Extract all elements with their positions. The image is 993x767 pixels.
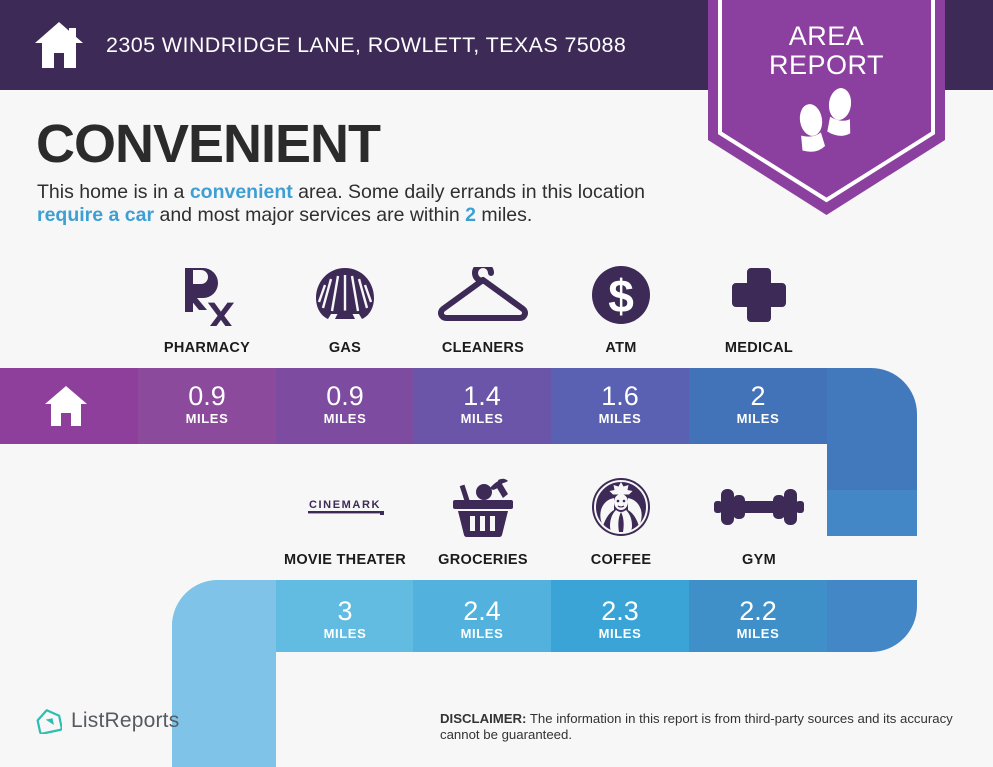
category-label: MEDICAL bbox=[725, 340, 793, 356]
category-gym[interactable]: GYM bbox=[690, 474, 828, 568]
listreports-logo[interactable]: ListReports bbox=[36, 708, 179, 734]
row2-icons: CINEMARK MOVIE THEATER bbox=[276, 474, 828, 568]
category-gas[interactable]: GAS bbox=[276, 262, 414, 356]
row1-icons: PHARMACY GAS bbox=[138, 262, 828, 356]
rx-icon bbox=[179, 262, 235, 328]
dollar-circle-icon: $ bbox=[590, 262, 652, 328]
category-movie-theater[interactable]: CINEMARK MOVIE THEATER bbox=[276, 474, 414, 568]
category-coffee[interactable]: COFFEE bbox=[552, 474, 690, 568]
disclaimer: DISCLAIMER: The information in this repo… bbox=[440, 711, 980, 743]
category-label: CLEANERS bbox=[442, 340, 524, 356]
category-label: GYM bbox=[742, 552, 776, 568]
medical-cross-icon bbox=[730, 262, 788, 328]
area-report-infographic: 2305 WINDRIDGE LANE, ROWLETT, TEXAS 7508… bbox=[0, 0, 993, 767]
starbucks-logo-icon bbox=[590, 474, 652, 540]
area-report-badge: AREA REPORT bbox=[708, 0, 945, 215]
cinemark-logo-icon: CINEMARK bbox=[297, 474, 393, 540]
badge-text: AREA REPORT bbox=[708, 22, 945, 80]
disclaimer-label: DISCLAIMER: bbox=[440, 711, 526, 726]
category-label: ATM bbox=[605, 340, 636, 356]
category-pharmacy[interactable]: PHARMACY bbox=[138, 262, 276, 356]
listreports-house-tag-icon bbox=[36, 708, 62, 734]
shell-icon bbox=[314, 262, 376, 328]
dumbbell-icon bbox=[714, 474, 804, 540]
category-atm[interactable]: $ ATM bbox=[552, 262, 690, 356]
badge-line2: REPORT bbox=[708, 51, 945, 80]
category-groceries[interactable]: GROCERIES bbox=[414, 474, 552, 568]
badge-line1: AREA bbox=[708, 22, 945, 51]
svg-text:CINEMARK: CINEMARK bbox=[309, 499, 381, 511]
category-medical[interactable]: MEDICAL bbox=[690, 262, 828, 356]
category-label: GAS bbox=[329, 340, 361, 356]
category-label: GROCERIES bbox=[438, 552, 528, 568]
category-cleaners[interactable]: CLEANERS bbox=[414, 262, 552, 356]
svg-text:$: $ bbox=[608, 270, 634, 322]
category-label: COFFEE bbox=[591, 552, 652, 568]
house-icon bbox=[43, 384, 89, 428]
grocery-basket-icon bbox=[450, 474, 516, 540]
category-label: PHARMACY bbox=[164, 340, 250, 356]
category-label: MOVIE THEATER bbox=[284, 552, 406, 568]
listreports-wordmark: ListReports bbox=[71, 709, 179, 733]
hanger-icon bbox=[435, 262, 531, 328]
top-bar-segments bbox=[0, 368, 967, 444]
